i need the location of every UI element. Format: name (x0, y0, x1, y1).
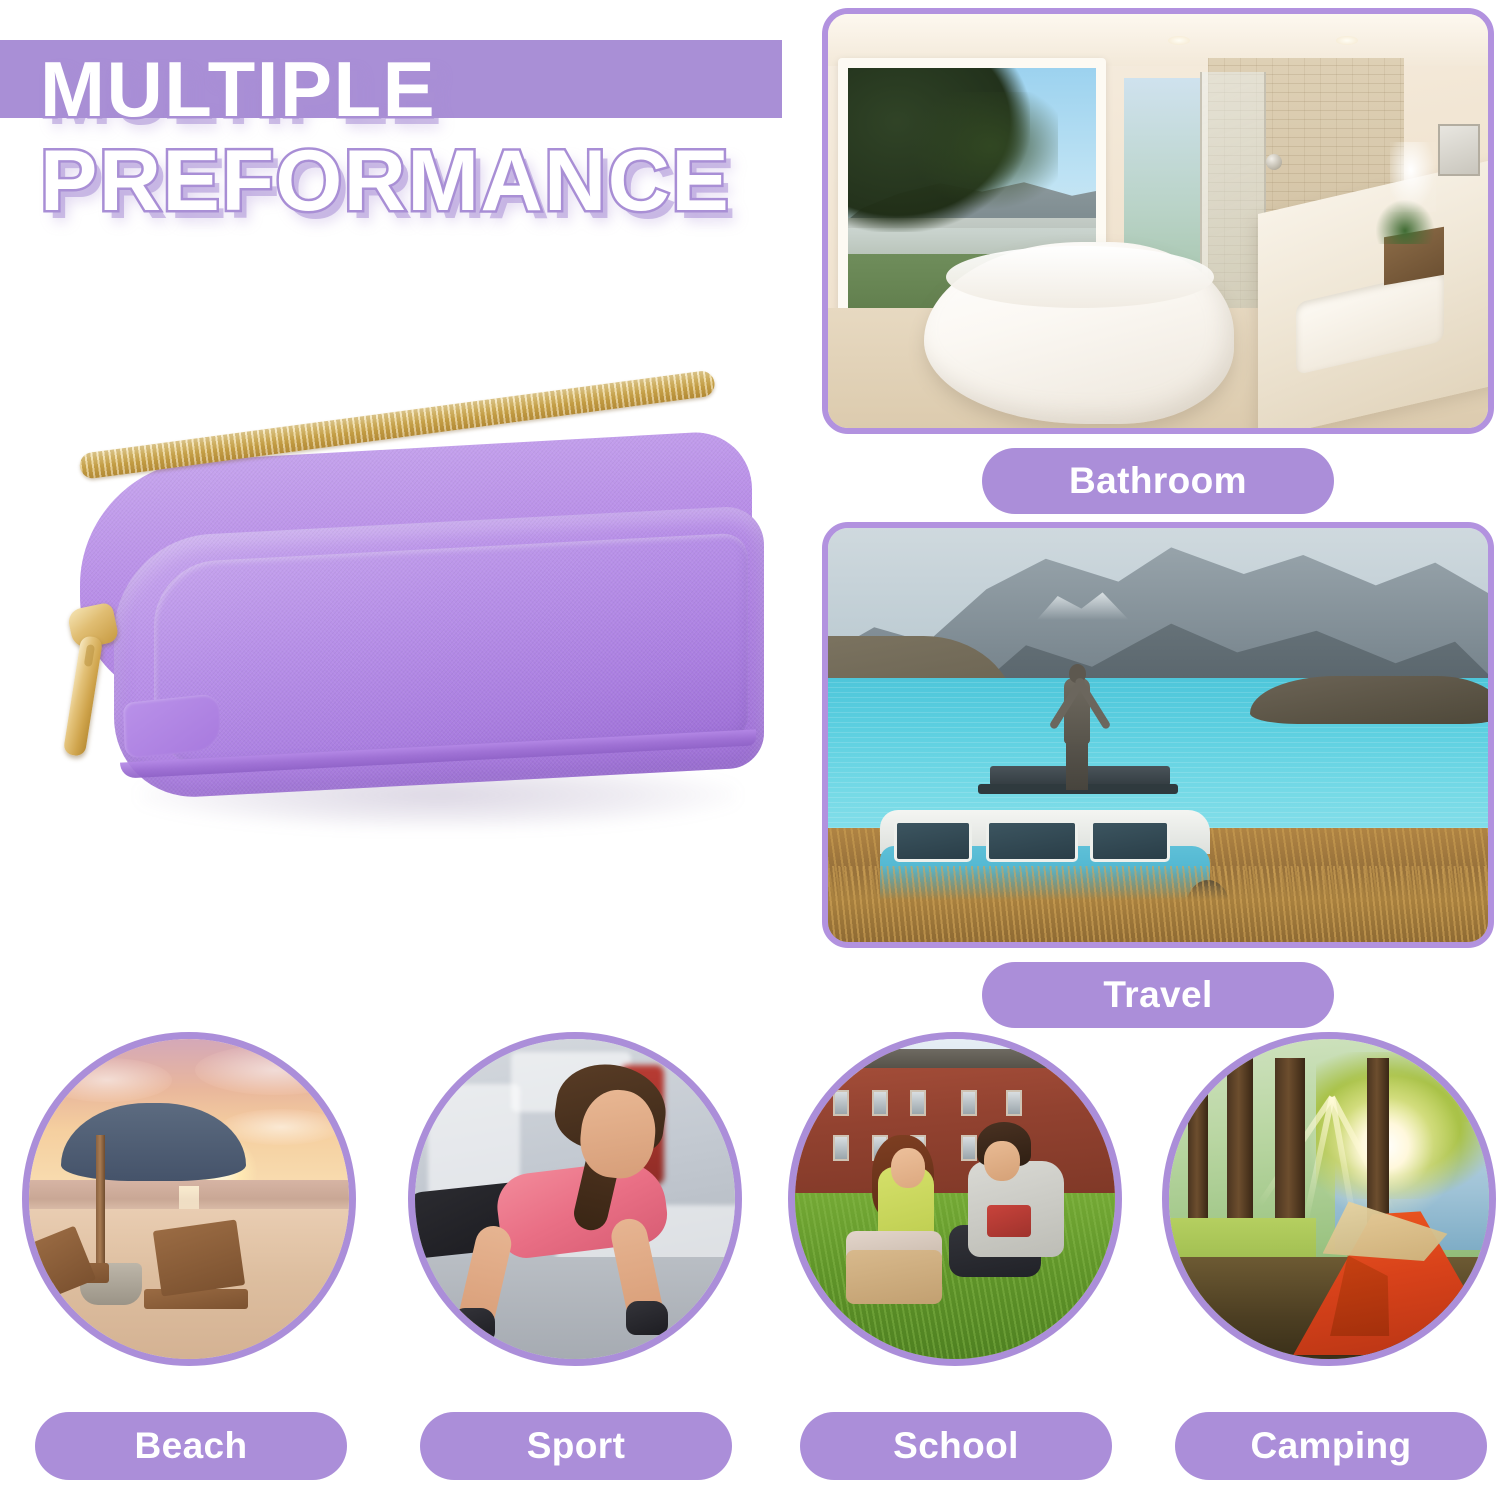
hoodie-logo (987, 1205, 1031, 1237)
scene-circle-camping (1162, 1032, 1496, 1366)
scene-label-text: Beach (134, 1425, 247, 1467)
ceiling-light-icon (1168, 36, 1190, 45)
scene-circle-sport (408, 1032, 742, 1366)
product-feature-collage: MULTIPLE PREFORMANCE (0, 0, 1500, 1500)
sport-scene (415, 1039, 735, 1359)
zipper-pull-tab (63, 635, 104, 757)
building-roof (795, 1049, 1115, 1068)
scene-label-camping: Camping (1175, 1412, 1487, 1480)
building-window (910, 1090, 926, 1116)
bathroom-scene (828, 14, 1488, 428)
workout-glove-right (626, 1301, 668, 1335)
building-window (1006, 1090, 1022, 1116)
workout-glove-left (453, 1308, 495, 1342)
campervan-window (1090, 820, 1170, 862)
travel-scene (828, 528, 1488, 942)
cloud (42, 1058, 172, 1102)
building-window (961, 1090, 977, 1116)
headline-line-1: MULTIPLE (40, 52, 840, 128)
scene-card-travel (822, 522, 1494, 948)
brick-building (795, 1052, 1115, 1199)
shower-head-icon (1266, 154, 1282, 170)
far-shore-rocks (1250, 676, 1488, 724)
camping-scene (1169, 1039, 1489, 1359)
person-legs (1066, 736, 1088, 790)
student-girl-face (891, 1148, 925, 1188)
grass-texture (828, 866, 1488, 942)
scene-label-text: School (893, 1425, 1019, 1467)
student-bag (846, 1250, 942, 1304)
campus-lawn (795, 1193, 1115, 1359)
grass-texture (795, 1193, 1115, 1359)
building-window (833, 1135, 849, 1161)
window-tree (908, 92, 1058, 212)
lounge-chair-back (153, 1219, 245, 1296)
foreground-grass (828, 866, 1488, 942)
scene-label-bathroom: Bathroom (982, 448, 1334, 514)
zipper-pull-hole (84, 644, 95, 667)
building-window (833, 1090, 849, 1116)
campervan-window (894, 820, 972, 862)
campervan-window (986, 820, 1078, 862)
scene-label-school: School (800, 1412, 1112, 1480)
scene-label-beach: Beach (35, 1412, 347, 1480)
scene-label-text: Camping (1250, 1425, 1411, 1467)
scene-circle-beach (22, 1032, 356, 1366)
product-image-pencil-case (28, 430, 788, 860)
scene-label-travel: Travel (982, 962, 1334, 1028)
scene-label-text: Travel (1103, 974, 1212, 1016)
bathtub-rim (946, 246, 1214, 308)
building-window (961, 1135, 977, 1161)
headline-line-2: PREFORMANCE (40, 140, 840, 223)
scene-label-text: Bathroom (1069, 460, 1247, 502)
wall-tv-icon (1438, 124, 1480, 176)
cloud (195, 1045, 349, 1095)
student-boy-face (984, 1141, 1020, 1181)
building-window (872, 1090, 888, 1116)
page-title: MULTIPLE PREFORMANCE (40, 52, 840, 223)
beach-scene (29, 1039, 349, 1359)
scene-label-text: Sport (527, 1425, 626, 1467)
ceiling-light-icon (1336, 36, 1358, 45)
orchid-flower (1390, 142, 1436, 212)
scene-card-bathroom (822, 8, 1494, 434)
scene-label-sport: Sport (420, 1412, 732, 1480)
scene-circle-school (788, 1032, 1122, 1366)
umbrella-pole (96, 1135, 105, 1282)
school-scene (795, 1039, 1115, 1359)
